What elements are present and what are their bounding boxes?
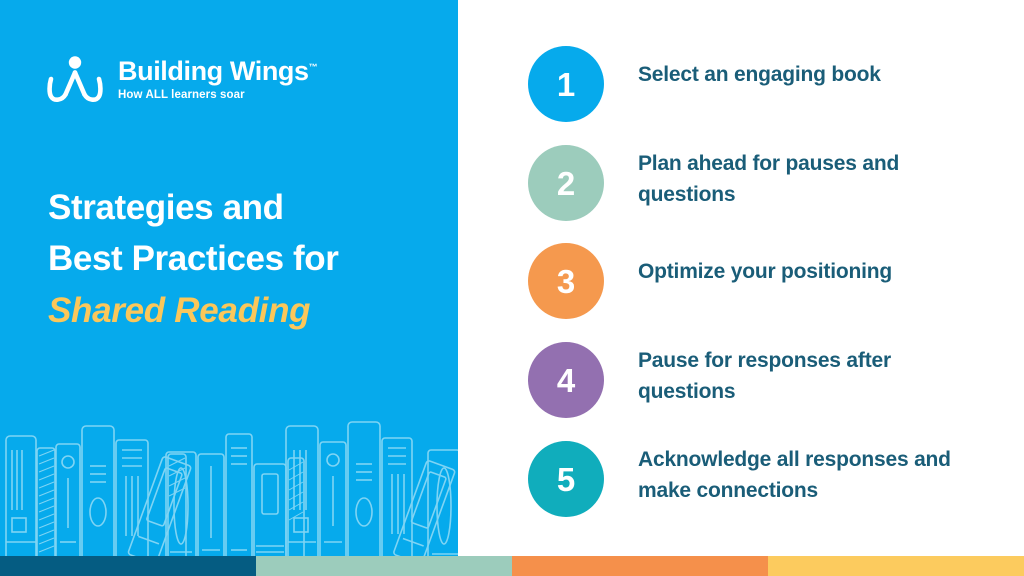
step-label-4: Pause for responses after questions — [638, 342, 978, 408]
step-number-1: 1 — [557, 68, 575, 101]
title-line-2: Best Practices for — [48, 233, 428, 284]
step-item-3[interactable]: 3 Optimize your positioning — [528, 243, 1008, 319]
title-accent-line: Shared Reading — [48, 285, 428, 336]
left-panel: Building Wings™ How ALL learners soar St… — [0, 0, 458, 566]
step-item-4[interactable]: 4 Pause for responses after questions — [528, 342, 1008, 418]
page-title: Strategies and Best Practices for Shared… — [48, 182, 428, 336]
step-number-badge-2: 2 — [528, 145, 604, 221]
step-item-2[interactable]: 2 Plan ahead for pauses and questions — [528, 145, 1008, 221]
step-number-badge-4: 4 — [528, 342, 604, 418]
step-label-2: Plan ahead for pauses and questions — [638, 145, 978, 211]
step-number-3: 3 — [557, 265, 575, 298]
brand-logo: Building Wings™ How ALL learners soar — [46, 54, 318, 104]
step-number-badge-3: 3 — [528, 243, 604, 319]
bookshelf-line-art-icon — [0, 406, 458, 566]
brand-name-text: Building Wings — [118, 56, 309, 86]
title-line-1: Strategies and — [48, 182, 428, 233]
step-item-5[interactable]: 5 Acknowledge all responses and make con… — [528, 441, 1008, 517]
segment-dark-blue — [0, 556, 256, 576]
step-number-4: 4 — [557, 364, 575, 397]
slide-canvas: Building Wings™ How ALL learners soar St… — [0, 0, 1024, 576]
segment-yellow — [768, 556, 1024, 576]
bottom-color-bar — [0, 556, 1024, 576]
step-item-1[interactable]: 1 Select an engaging book — [528, 46, 1008, 122]
step-label-3: Optimize your positioning — [638, 243, 892, 288]
step-label-5: Acknowledge all responses and make conne… — [638, 441, 978, 507]
wings-w-logo-icon — [46, 54, 104, 104]
brand-name: Building Wings™ — [118, 57, 318, 85]
steps-list: 1 Select an engaging book 2 Plan ahead f… — [458, 0, 1024, 566]
step-number-5: 5 — [557, 463, 575, 496]
segment-sage-green — [256, 556, 512, 576]
step-number-badge-1: 1 — [528, 46, 604, 122]
step-label-1: Select an engaging book — [638, 46, 881, 91]
brand-trademark: ™ — [309, 62, 318, 72]
step-number-2: 2 — [557, 167, 575, 200]
segment-orange — [512, 556, 768, 576]
brand-tagline: How ALL learners soar — [118, 89, 318, 101]
step-number-badge-5: 5 — [528, 441, 604, 517]
